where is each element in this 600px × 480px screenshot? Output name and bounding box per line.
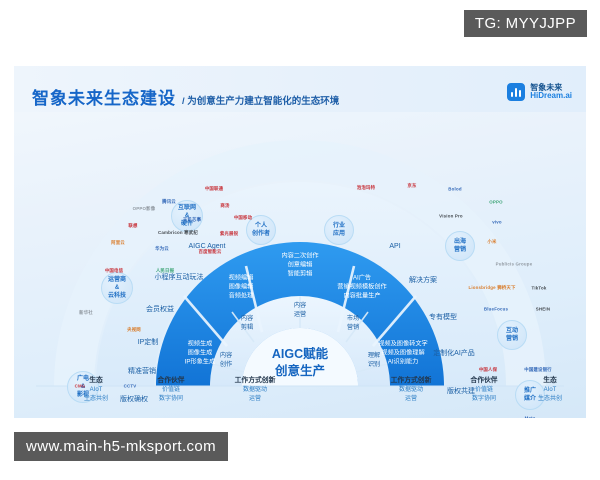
partner-logo-right-6: 小米: [487, 239, 496, 245]
brand-text: 智象未来 HiDream.ai: [530, 84, 572, 101]
footer-group-4: 合作伙伴 价值链 数字协同: [470, 376, 497, 404]
watermark-bottom: www.main-h5-mksport.com: [14, 432, 228, 461]
partner-logo-left-8: 紫光展锐: [220, 231, 238, 237]
footer-group-1-sub1: 价值链: [157, 386, 184, 395]
brand-name-en: HiDream.ai: [530, 92, 572, 100]
screenshot-root: TG: MYYJJPP 智象未来生态建设 / 为创意生产力建立智能化的生态环境 …: [0, 0, 600, 480]
slide-canvas: 智象未来生态建设 / 为创意生产力建立智能化的生态环境 智象未来 HiDream…: [14, 66, 586, 418]
footer-group-0-sub2: 生态共创: [84, 395, 108, 404]
partner-logo-right-8: Lionsbridge 狮桥天下: [468, 285, 515, 291]
footer-group-2: 工作方式创新 数据驱动 运营: [235, 376, 276, 404]
partner-logo-left-9: 阿里云: [111, 240, 125, 246]
footer-group-3-sub2: 运营: [391, 395, 432, 404]
bubble-industry-application-line-1: 应用: [333, 230, 345, 238]
partner-logo-right-11: SHEIN: [536, 307, 550, 312]
partner-logo-left-0: 中国联通: [205, 186, 223, 192]
watermark-top: TG: MYYJJPP: [464, 10, 587, 37]
footer-group-3-sub1: 数据驱动: [391, 386, 432, 395]
partner-logo-left-11: 百度智能云: [199, 249, 222, 255]
footer-group-2-sub1: 数据驱动: [235, 386, 276, 395]
partner-logo-left-1: 腾讯云: [162, 199, 176, 205]
ecosystem-fan-diagram: AIGC赋能 创意生产 内容创作 内容剪辑 内容运营 市场营销 理解识别 视频生…: [14, 106, 586, 418]
footer-groups: 生态 AIoT 生态共创 合作伙伴 价值链 数字协同 工作方式创新 数据驱动 运…: [14, 376, 586, 410]
bubble-interactive-marketing-line-1: 营销: [506, 335, 518, 343]
bubble-operator-cloud-line-2: 云科技: [108, 292, 126, 300]
partner-logo-right-2: Bolod: [448, 187, 461, 192]
partner-logo-left-15: 央视网: [127, 327, 141, 333]
partner-logo-left-7: Cambricon 寒武纪: [158, 230, 198, 236]
footer-group-4-sub1: 价值链: [470, 386, 497, 395]
bubble-overseas-marketing[interactable]: 出海 营销: [445, 231, 475, 261]
partner-logo-right-5: Vision Pro: [439, 214, 463, 219]
partner-logo-left-3: OPPO影像: [133, 206, 156, 212]
brand-logo: 智象未来 HiDream.ai: [507, 83, 572, 101]
footer-group-2-sub2: 运营: [235, 395, 276, 404]
bubble-individual-creator-line-1: 创作者: [252, 230, 270, 238]
partner-logo-left-4: 天玑芯事: [183, 217, 201, 223]
partner-logo-right-13: 中国建设银行: [524, 367, 552, 373]
bubble-interactive-marketing-line-0: 互动: [506, 327, 518, 335]
partner-logo-left-5: 中国移动: [234, 215, 252, 221]
partner-logo-right-9: TikTok: [532, 286, 547, 291]
footer-group-2-title: 工作方式创新: [235, 376, 276, 386]
partner-logo-right-7: Publicis Groupe: [496, 262, 533, 267]
core-line-1: AIGC赋能: [272, 346, 328, 363]
bubble-industry-application-line-0: 行业: [333, 222, 345, 230]
partner-logo-right-14: Meta: [525, 416, 536, 419]
bubble-operator-cloud-line-0: 运营商: [108, 276, 126, 284]
footer-group-3-title: 工作方式创新: [391, 376, 432, 386]
partner-logo-right-4: vivo: [492, 220, 502, 225]
footer-group-4-sub2: 数字协同: [470, 395, 497, 404]
footer-group-1-sub2: 数字协同: [157, 395, 184, 404]
bubble-individual-creator-line-0: 个人: [252, 222, 270, 230]
bubble-industry-application[interactable]: 行业 应用: [324, 215, 354, 245]
core-label: AIGC赋能 创意生产: [272, 346, 328, 380]
bubble-operator-cloud-line-1: &: [108, 284, 126, 292]
bubble-overseas-marketing-line-1: 营销: [454, 246, 466, 254]
partner-logo-left-6: 联想: [128, 223, 137, 229]
partner-logo-left-12: 中国电信: [105, 268, 123, 274]
partner-logo-left-2: 商汤: [220, 203, 229, 209]
bubble-interactive-marketing[interactable]: 互动 营销: [497, 320, 527, 350]
bubble-operator-cloud[interactable]: 运营商 & 云科技: [101, 272, 133, 304]
footer-group-1-title: 合作伙伴: [157, 376, 184, 386]
partner-logo-right-12: 中国人保: [479, 367, 497, 373]
footer-group-0-sub1: AIoT: [84, 386, 108, 395]
footer-group-5-sub1: AIoT: [538, 386, 562, 395]
bubble-overseas-marketing-line-0: 出海: [454, 238, 466, 246]
partner-logo-right-1: 京东: [407, 183, 416, 189]
footer-group-4-title: 合作伙伴: [470, 376, 497, 386]
partner-logo-right-3: OPPO: [489, 200, 503, 205]
footer-group-0-title: 生态: [84, 376, 108, 386]
partner-logo-left-14: 新华社: [79, 310, 93, 316]
title-subtitle: / 为创意生产力建立智能化的生态环境: [182, 93, 339, 107]
partner-logo-left-13: 人民日报: [156, 268, 174, 274]
footer-group-5: 生态 AIoT 生态共创: [538, 376, 562, 404]
footer-group-5-title: 生态: [538, 376, 562, 386]
footer-group-1: 合作伙伴 价值链 数字协同: [157, 376, 184, 404]
partner-logo-right-10: BlueFocus: [484, 307, 508, 312]
footer-group-5-sub2: 生态共创: [538, 395, 562, 404]
footer-group-0: 生态 AIoT 生态共创: [84, 376, 108, 404]
bar-chart-logo-icon: [507, 83, 525, 101]
bubble-internet-hardware-line-0: 互联网: [178, 204, 196, 212]
partner-logo-right-0: 泡泡玛特: [357, 185, 375, 191]
partner-logo-left-10: 华为云: [155, 246, 169, 252]
footer-group-3: 工作方式创新 数据驱动 运营: [391, 376, 432, 404]
